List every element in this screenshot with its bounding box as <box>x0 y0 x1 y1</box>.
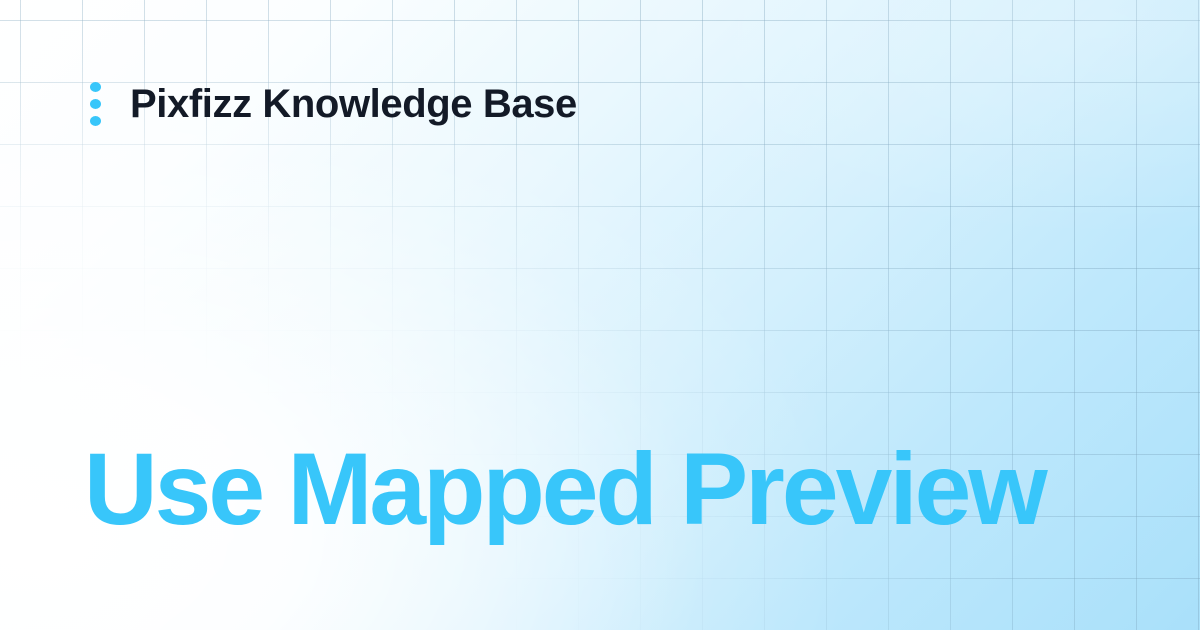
logo-dot-top <box>90 82 101 92</box>
banner-content: Pixfizz Knowledge Base Use Mapped Previe… <box>0 0 1200 630</box>
page-title: Use Mapped Preview <box>84 432 1116 546</box>
social-share-banner: Pixfizz Knowledge Base Use Mapped Previe… <box>0 0 1200 630</box>
logo-dot-middle <box>90 99 101 109</box>
logo-dot-bottom <box>90 116 101 126</box>
brand-header: Pixfizz Knowledge Base <box>84 78 577 130</box>
brand-title: Pixfizz Knowledge Base <box>130 84 577 124</box>
three-vertical-dots-icon <box>84 82 106 126</box>
